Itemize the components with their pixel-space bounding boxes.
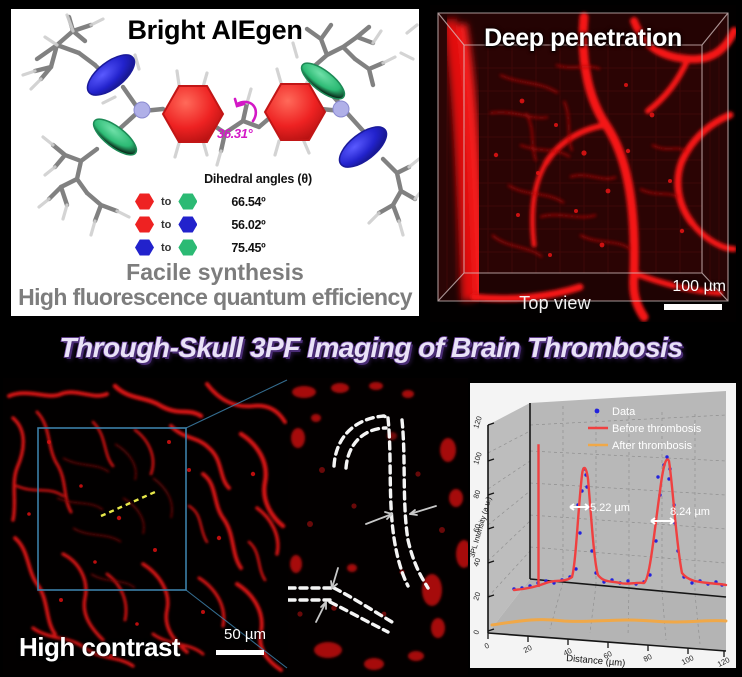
top-view-label: Top view [475,293,635,314]
legend-marker-data [595,409,600,414]
tagline-facile-synthesis: Facile synthesis [11,259,419,286]
connector-label: to [161,242,171,254]
hexagon-swatch-icon [178,216,197,233]
dihedral-value: 56.02º [231,218,265,232]
section-banner: Through-Skull 3PF Imaging of Brain Throm… [0,326,742,378]
connector-label: to [161,196,171,208]
intensity-profile-chart: 5.22 µm 8.24 µm Data Before thrombosis A… [470,383,736,668]
chart-canvas: 5.22 µm 8.24 µm Data Before thrombosis A… [470,383,736,668]
deep-penetration-title: Deep penetration [430,24,736,53]
banner-title: Through-Skull 3PF Imaging of Brain Throm… [0,332,742,364]
annotation-width-2: 8.24 µm [670,506,710,518]
table-row: to 75.45º [135,236,365,259]
dihedral-rotation-angle-label: 36.31° [217,126,252,141]
dihedral-angles-table: Dihedral angles (θ) to 66.54º to 56.02º … [135,172,365,259]
dihedral-value: 66.54º [231,195,265,209]
hexagon-swatch-icon [135,216,154,233]
scale-bar [216,650,264,655]
scale-bar [664,304,722,310]
table-row: to 56.02º [135,213,365,236]
legend-label-data: Data [612,406,636,418]
scale-bar-label: 100 µm [672,278,726,296]
graphical-abstract: Bright AIEgen 36.31° Dihedral angles (θ)… [0,0,742,677]
molecule-panel: Bright AIEgen 36.31° Dihedral angles (θ)… [8,6,422,319]
hexagon-swatch-icon [178,193,197,210]
high-contrast-label: High contrast [19,632,180,663]
high-contrast-panel: High contrast 50 µm [3,378,288,675]
deep-penetration-panel: Deep penetration Top view 100 µm [430,5,736,322]
dihedral-angles-heading: Dihedral angles (θ) [151,172,365,186]
scale-bar-label: 50 µm [224,626,266,643]
legend-label-before: Before thrombosis [612,423,702,435]
hexagon-swatch-icon [135,239,154,256]
legend-label-after: After thrombosis [612,440,693,452]
vessel-trace-panel [288,378,468,675]
dihedral-value: 75.45º [231,241,265,255]
hexagon-swatch-icon [178,239,197,256]
annotation-width-1: 5.22 µm [590,502,630,514]
tagline-quantum-efficiency: High fluorescence quantum efficiency [11,284,419,311]
hexagon-swatch-icon [135,193,154,210]
connector-label: to [161,219,171,231]
table-row: to 66.54º [135,190,365,213]
vessel-outline-trace [288,378,468,675]
molecule-panel-title: Bright AIEgen [11,15,419,46]
